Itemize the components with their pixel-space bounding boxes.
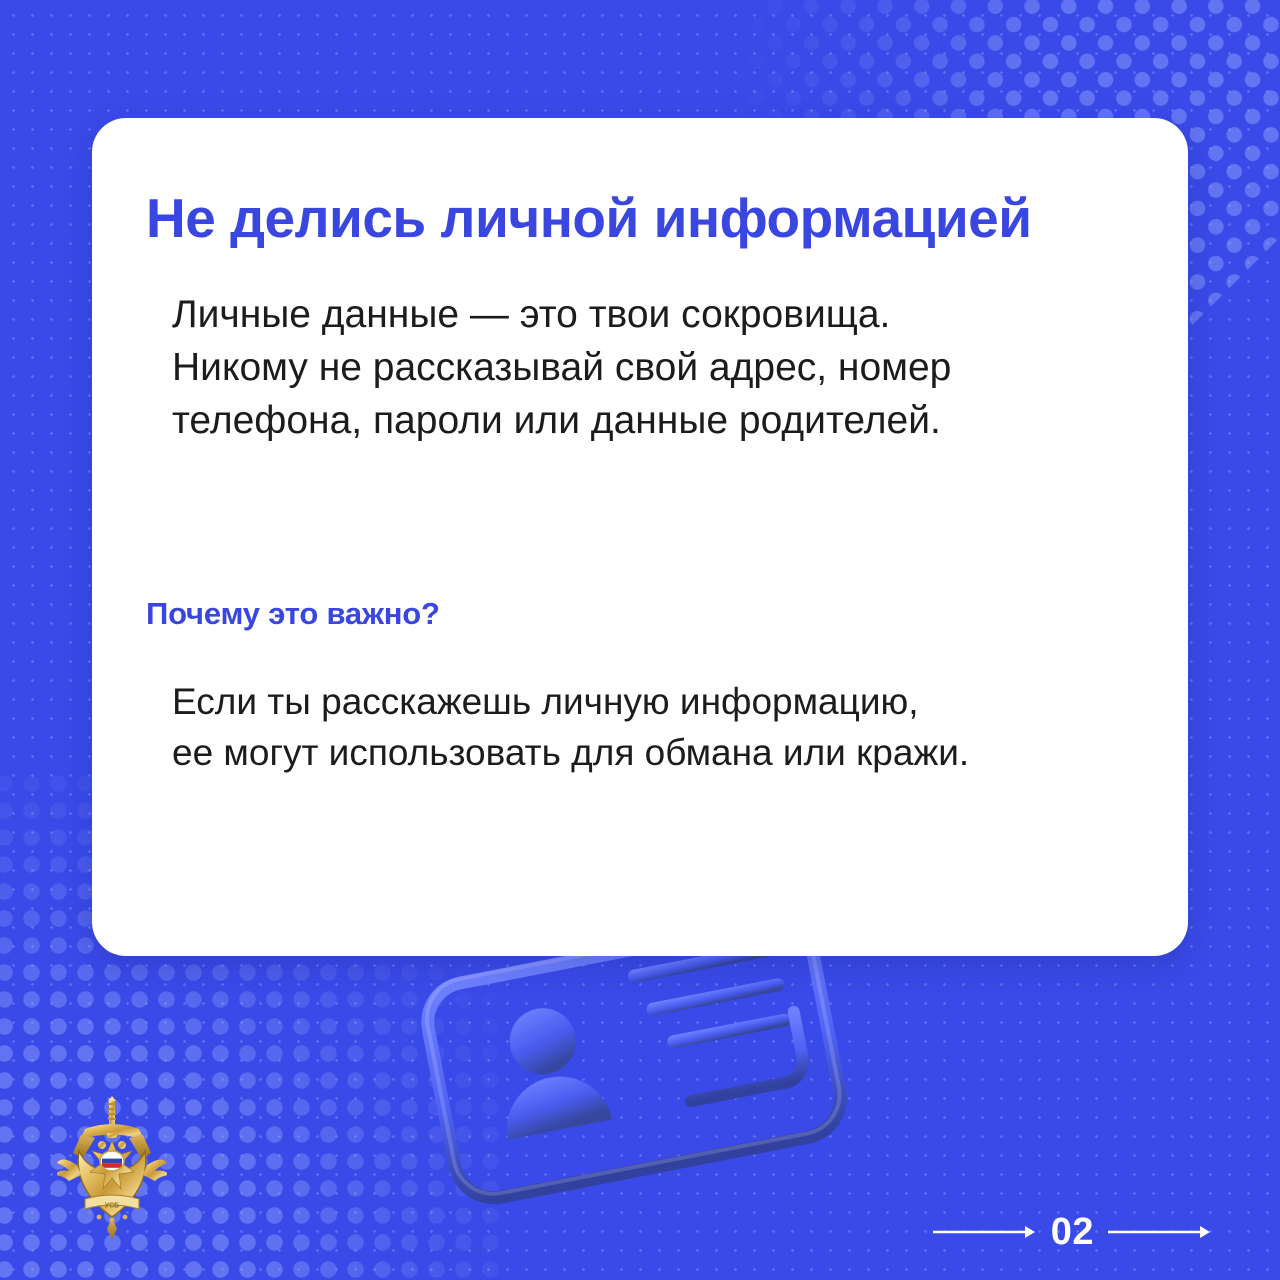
note-text: Если ты расскажешь личную информацию, ее… <box>172 676 1122 778</box>
body-text: Личные данные — это твои сокровища. Нико… <box>172 288 1102 447</box>
body-line: Личные данные — это твои сокровища. <box>172 288 1102 341</box>
page-number: 02 <box>1051 1213 1094 1251</box>
emblem-ribbon-text: УСБ <box>105 1203 119 1210</box>
page-indicator: 02 <box>933 1206 1212 1258</box>
body-line: Никому не рассказывай свой адрес, номер <box>172 341 1102 394</box>
investigative-committee-emblem: УСБ <box>57 1095 167 1243</box>
section-subheading: Почему это важно? <box>146 596 440 632</box>
content-card: Не делись личной информацией Личные данн… <box>92 118 1188 956</box>
body-line: телефона, пароли или данные родителей. <box>172 394 1102 447</box>
note-line: ее могут использовать для обмана или кра… <box>172 727 1122 778</box>
note-line: Если ты расскажешь личную информацию, <box>172 676 1122 727</box>
slide-canvas: Не делись личной информацией Личные данн… <box>0 0 1280 1280</box>
page-title: Не делись личной информацией <box>146 190 1136 248</box>
arrow-right-icon <box>933 1223 1037 1241</box>
arrow-right-icon <box>1108 1223 1212 1241</box>
